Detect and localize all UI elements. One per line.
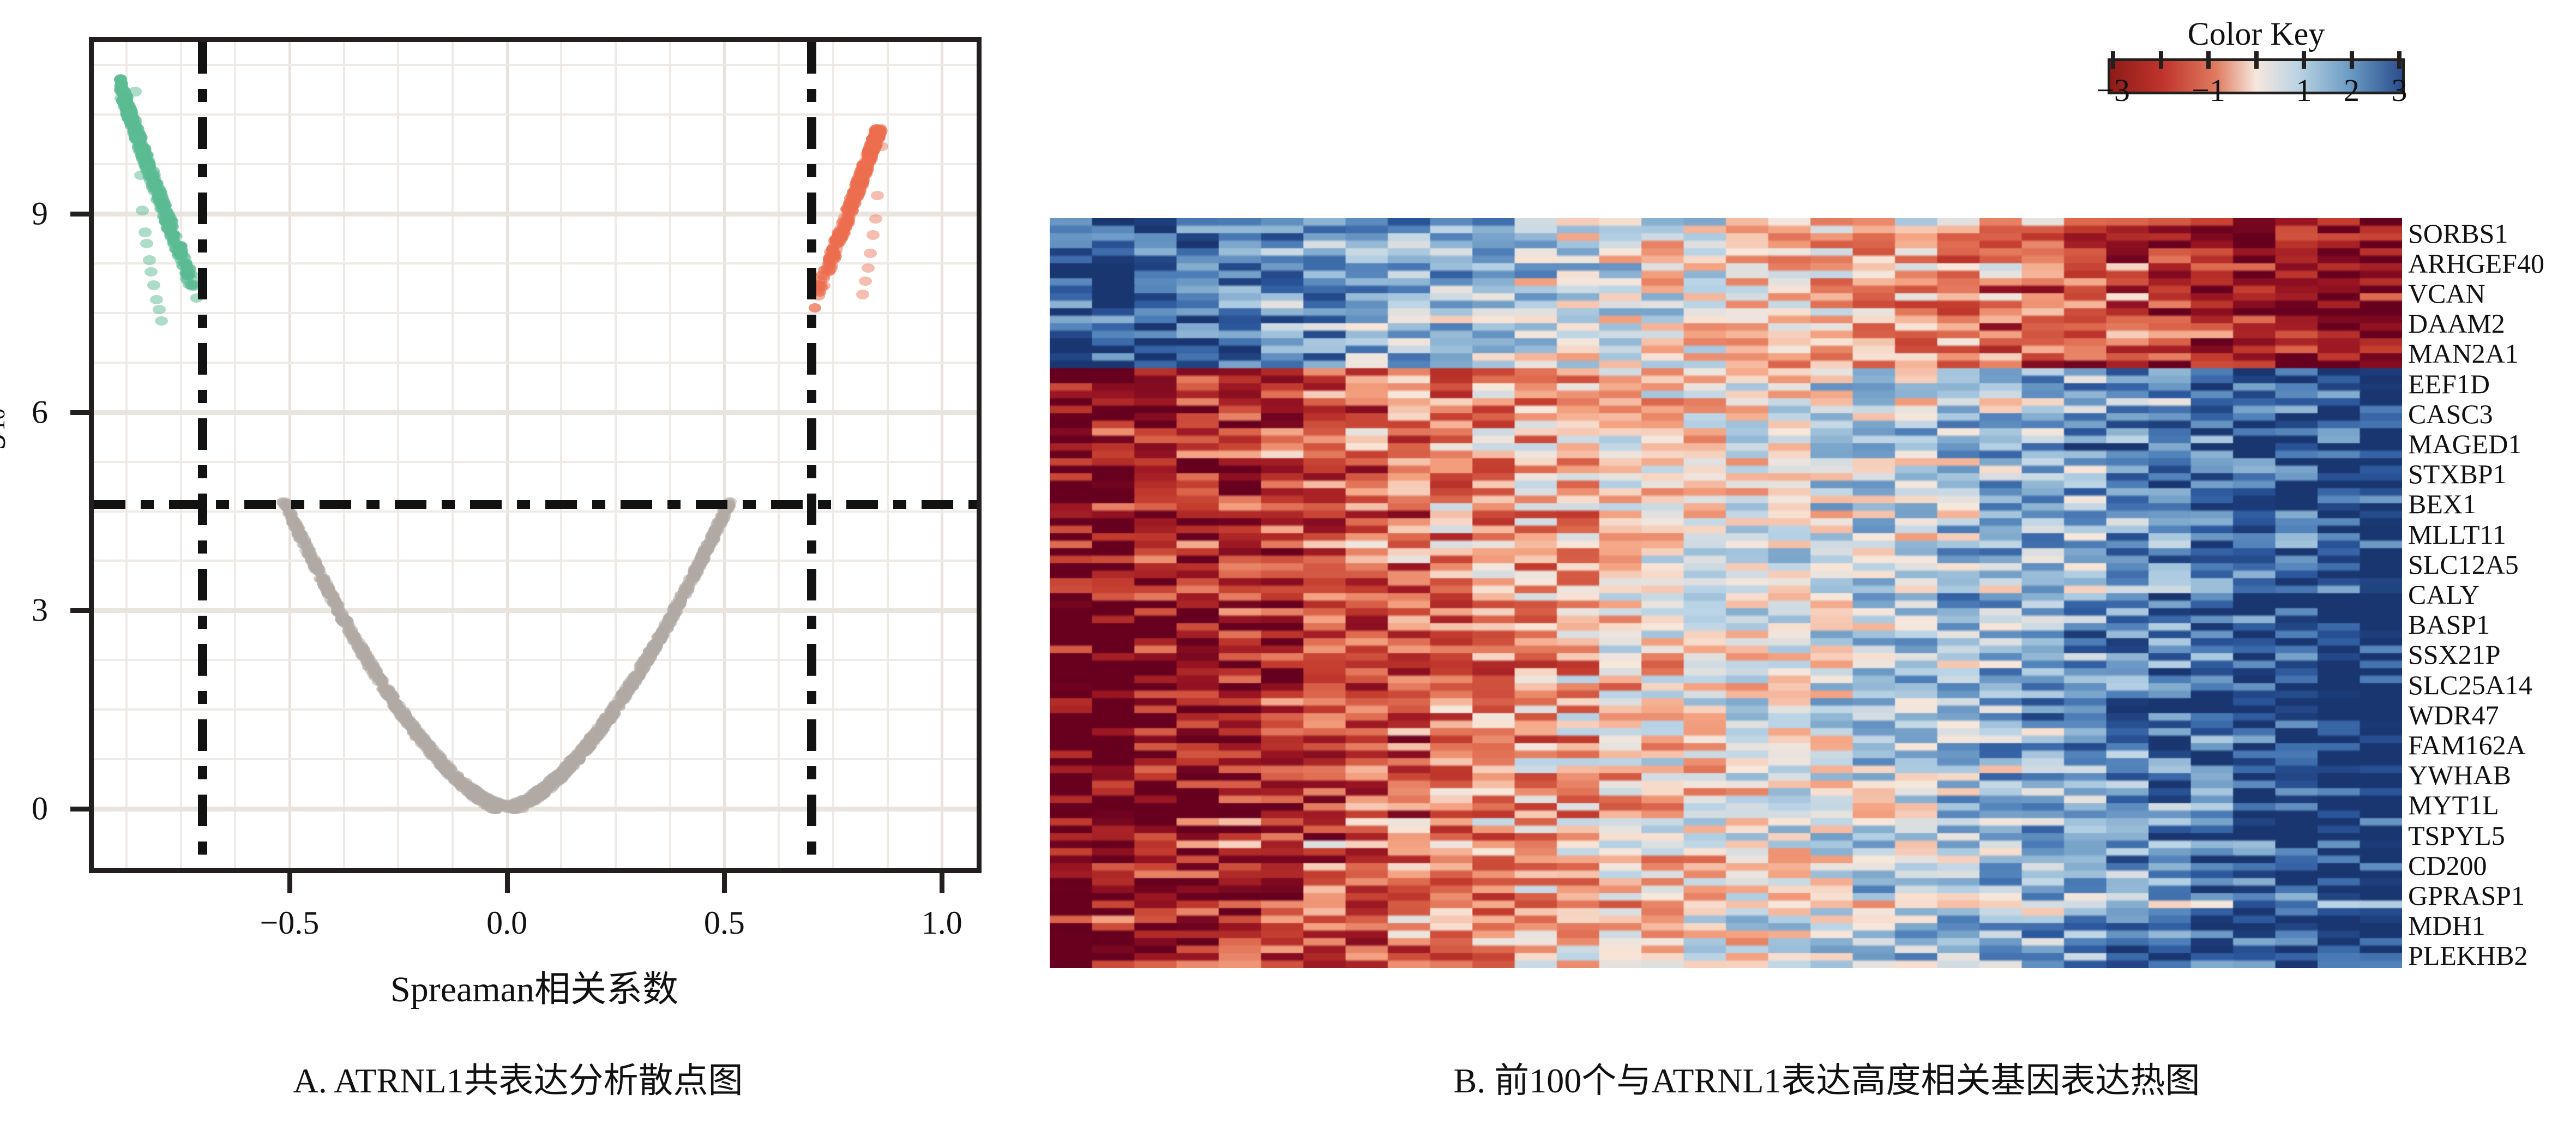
scatter-point — [835, 233, 847, 242]
scatter-point — [864, 249, 877, 258]
scatter-point — [859, 169, 871, 178]
y-axis-label: −log10 P — [0, 379, 10, 494]
scatter-point — [147, 280, 160, 290]
scatter-point — [181, 262, 194, 272]
gene-label: CD200 — [2408, 852, 2487, 879]
y-tick-label: 6 — [32, 393, 48, 431]
scatter-point — [871, 191, 884, 200]
scatter-point — [181, 272, 194, 281]
x-tick — [940, 873, 944, 893]
threshold-line-positive — [807, 42, 816, 868]
gene-label: MLLT11 — [2408, 521, 2506, 548]
gene-label: ARHGEF40 — [2408, 250, 2544, 277]
scatter-point — [615, 698, 627, 706]
scatter-point — [133, 146, 146, 155]
y-tick — [70, 410, 89, 415]
heatmap-canvas — [1050, 218, 2402, 968]
scatter-point — [825, 263, 838, 273]
scatter-point — [700, 548, 712, 557]
scatter-point — [604, 716, 616, 725]
scatter-point — [405, 722, 417, 730]
x-tick-label: 0.0 — [486, 904, 527, 942]
gene-label: MDH1 — [2408, 912, 2485, 939]
scatter-point — [140, 239, 153, 248]
y-tick-label: 0 — [32, 790, 48, 827]
scatter-point — [455, 779, 467, 788]
scatter-point — [351, 636, 363, 645]
gene-label: PLEKHB2 — [2408, 942, 2527, 969]
x-axis-label: Spreaman相关系数 — [390, 960, 678, 1012]
scatter-point — [866, 230, 880, 239]
gene-label: FAM162A — [2408, 731, 2526, 759]
x-tick — [722, 873, 727, 893]
scatter-point — [838, 226, 850, 235]
color-key-title: Color Key — [2108, 15, 2405, 53]
scatter-point — [552, 774, 564, 783]
x-tick-label: −0.5 — [260, 904, 319, 942]
scatter-point — [864, 155, 876, 165]
scatter-point — [576, 744, 588, 753]
gene-label: BASP1 — [2408, 611, 2490, 638]
scatter-point — [309, 560, 321, 569]
scatter-point — [150, 295, 163, 304]
scatter-point — [354, 646, 366, 655]
scatter-point — [816, 283, 828, 292]
scatter-point — [828, 255, 841, 264]
scatter-point — [875, 142, 888, 151]
gene-label: TSPYL5 — [2408, 822, 2505, 849]
scatter-point — [346, 626, 358, 634]
scatter-point — [688, 564, 700, 573]
y-tick — [70, 807, 89, 812]
scatter-point — [869, 214, 882, 224]
color-key-tick — [2206, 51, 2211, 69]
scatter-point — [375, 675, 387, 684]
gene-label: EEF1D — [2408, 370, 2490, 398]
scatter-point — [164, 227, 177, 237]
color-key-tick — [2254, 51, 2259, 69]
threshold-line-significance — [94, 500, 977, 509]
scatter-point — [859, 277, 872, 286]
y-tick — [70, 212, 89, 217]
scatter-point — [312, 568, 324, 576]
y-tick — [70, 608, 89, 613]
gene-label: WDR47 — [2408, 701, 2499, 729]
color-key-legend: Color Key −3−1123 — [2108, 15, 2405, 94]
color-key-tick — [2111, 51, 2115, 69]
scatter-point — [636, 660, 648, 669]
threshold-line-negative — [198, 42, 207, 868]
panel-b-caption: B. 前100个与ATRNL1表达高度相关基因表达热图 — [1454, 1053, 2200, 1103]
gene-label: VCAN — [2408, 280, 2485, 307]
scatter-point — [135, 133, 148, 142]
color-key-tick — [2302, 51, 2306, 69]
scatter-point — [368, 666, 380, 675]
gene-label: MAN2A1 — [2408, 340, 2519, 367]
heatmap-grid — [1050, 218, 2402, 968]
scatter-point — [678, 587, 690, 596]
gene-label: MAGED1 — [2408, 430, 2521, 458]
scatter-point — [139, 227, 152, 237]
color-key-tick-label: 2 — [2344, 72, 2360, 109]
scatter-point — [332, 600, 344, 609]
scatter-point — [381, 685, 393, 694]
x-tick — [287, 873, 292, 893]
x-tick-label: 1.0 — [922, 904, 962, 942]
gene-label: BEX1 — [2408, 490, 2476, 518]
scatter-point — [862, 263, 875, 273]
scatter-point — [147, 179, 160, 189]
panel-a-scatter: 0369−0.50.00.51.0 −log10 P Spreaman相关系数 … — [0, 0, 1036, 1130]
gene-label: YWHAB — [2408, 761, 2511, 789]
scatter-point — [145, 267, 158, 277]
gene-label: CALY — [2408, 581, 2479, 608]
y-tick-label: 3 — [32, 592, 48, 629]
scatter-point — [872, 127, 885, 136]
gene-label: SLC12A5 — [2408, 551, 2519, 578]
scatter-point — [651, 640, 663, 649]
scatter-point — [116, 82, 128, 91]
gene-label: MYT1L — [2408, 791, 2499, 819]
scatter-plot-area — [89, 37, 982, 873]
gene-label: CASC3 — [2408, 400, 2493, 428]
scatter-point — [671, 603, 683, 612]
x-tick — [505, 873, 510, 893]
scatter-point — [157, 203, 170, 212]
y-tick-label: 9 — [32, 195, 48, 233]
gene-label: GPRASP1 — [2408, 882, 2525, 909]
gene-label: SSX21P — [2408, 641, 2501, 668]
color-key-tick — [2397, 51, 2402, 69]
scatter-point — [361, 658, 373, 666]
color-key-tick — [2159, 51, 2163, 69]
scatter-point — [153, 305, 166, 314]
scatter-point — [645, 652, 657, 660]
scatter-point — [850, 189, 863, 198]
gene-label: SORBS1 — [2408, 220, 2508, 247]
panel-a-caption: A. ATRNL1共表达分析散点图 — [293, 1053, 743, 1103]
scatter-point — [155, 316, 168, 326]
scatter-point — [127, 113, 139, 123]
scatter-point — [423, 742, 435, 751]
gene-label: SLC25A14 — [2408, 671, 2532, 699]
gene-label: DAAM2 — [2408, 310, 2505, 337]
color-key-tick-label: 1 — [2296, 72, 2312, 109]
scatter-point — [856, 290, 869, 299]
scatter-point — [162, 215, 175, 224]
scatter-points-layer — [94, 42, 977, 868]
scatter-point — [852, 179, 865, 188]
color-key-tick-label: −3 — [2096, 72, 2130, 109]
color-key-tick — [2350, 51, 2354, 69]
heatmap-gene-labels: SORBS1ARHGEF40VCANDAAM2MAN2A1EEF1DCASC3M… — [2408, 203, 2572, 988]
x-tick-label: 0.5 — [704, 904, 745, 942]
color-key-tick-label: −1 — [2192, 72, 2225, 109]
scatter-point — [634, 672, 646, 681]
scatter-point — [129, 87, 142, 96]
panel-b-heatmap: Color Key −3−1123 SORBS1ARHGEF40VCANDAAM… — [1036, 0, 2576, 1130]
scatter-point — [136, 206, 149, 215]
scatter-point — [143, 255, 156, 265]
color-key-tick-label: 3 — [2392, 72, 2408, 109]
scatter-point — [591, 726, 603, 735]
gene-label: STXBP1 — [2408, 460, 2507, 488]
